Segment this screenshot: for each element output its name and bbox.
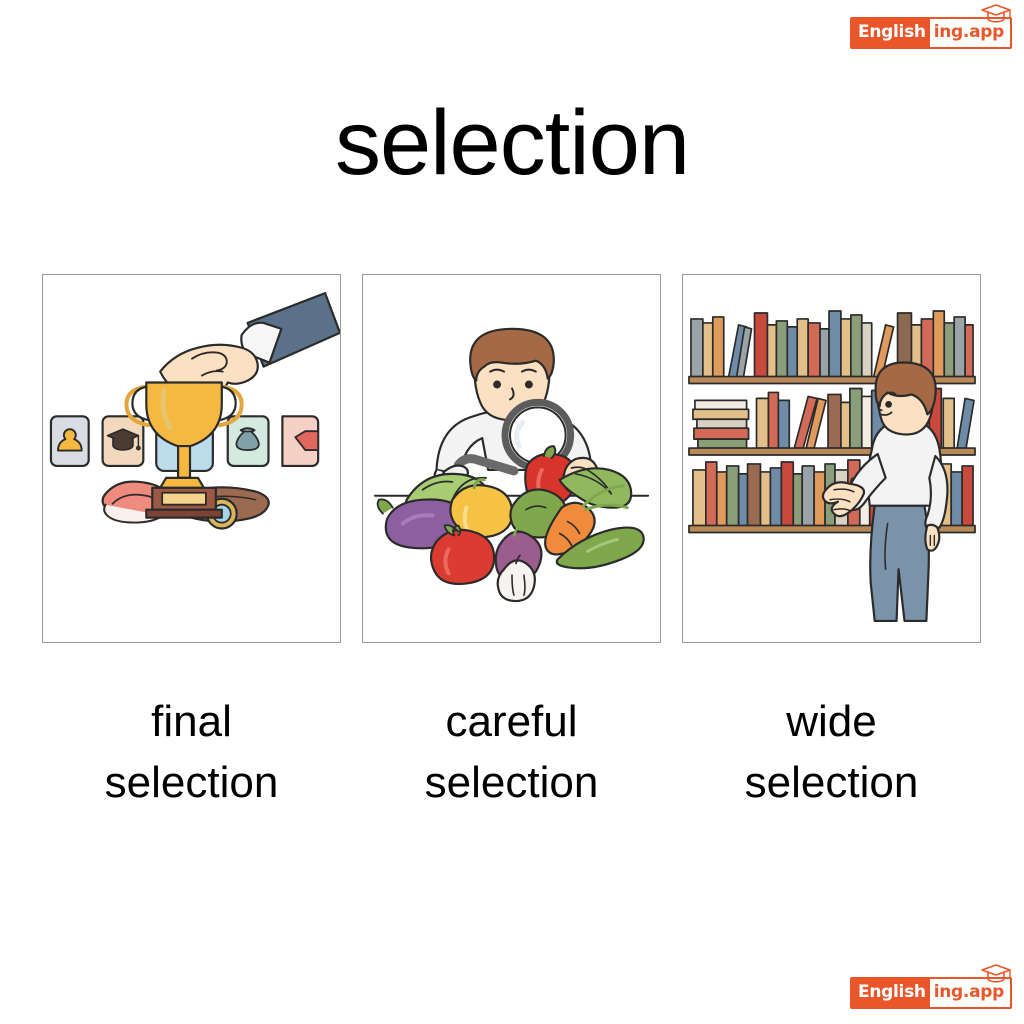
- cucumber-leaves: [560, 468, 632, 507]
- option-card-person: [51, 416, 89, 466]
- option-card-partial-red: [282, 416, 318, 466]
- illustration-card-careful-selection[interactable]: [362, 274, 661, 643]
- graduation-cap-icon: [979, 962, 1013, 984]
- caption-careful-selection: careful selection: [362, 692, 661, 813]
- right-hand: [925, 525, 939, 551]
- caption-wide-selection: wide selection: [682, 692, 981, 813]
- brand-logo-badge: English ing.app: [850, 977, 1012, 1009]
- caption-line-1: wide: [682, 692, 981, 753]
- option-card-money-bag: [228, 416, 269, 466]
- caption-line-1: final: [42, 692, 341, 753]
- illustration-card-row: [42, 274, 982, 643]
- brand-logo-badge: English ing.app: [850, 17, 1012, 49]
- illustration-card-wide-selection[interactable]: [682, 274, 981, 643]
- caption-line-2: selection: [362, 753, 661, 814]
- page-title: selection: [0, 97, 1024, 189]
- caption-line-1: careful: [362, 692, 661, 753]
- caption-row: final selection careful selection wide s…: [42, 692, 982, 813]
- brand-name-primary: English: [852, 979, 930, 1007]
- graduation-cap-icon: [979, 2, 1013, 24]
- book-stack: [693, 400, 749, 448]
- jeans: [870, 506, 929, 621]
- brand-name-primary: English: [852, 19, 930, 47]
- illustration-card-final-selection[interactable]: [42, 274, 341, 643]
- hand-picking-trophy-illustration: [43, 275, 340, 642]
- man-at-bookshelves-illustration: [683, 275, 980, 642]
- vegetable-pile: [378, 468, 644, 601]
- caption-final-selection: final selection: [42, 692, 341, 813]
- man-inspecting-pepper-illustration: [363, 275, 660, 642]
- brand-logo-bottom[interactable]: English ing.app: [850, 978, 1012, 1008]
- caption-line-2: selection: [682, 753, 981, 814]
- brand-logo-top[interactable]: English ing.app: [850, 18, 1012, 48]
- caption-line-2: selection: [42, 753, 341, 814]
- tomato: [431, 530, 494, 584]
